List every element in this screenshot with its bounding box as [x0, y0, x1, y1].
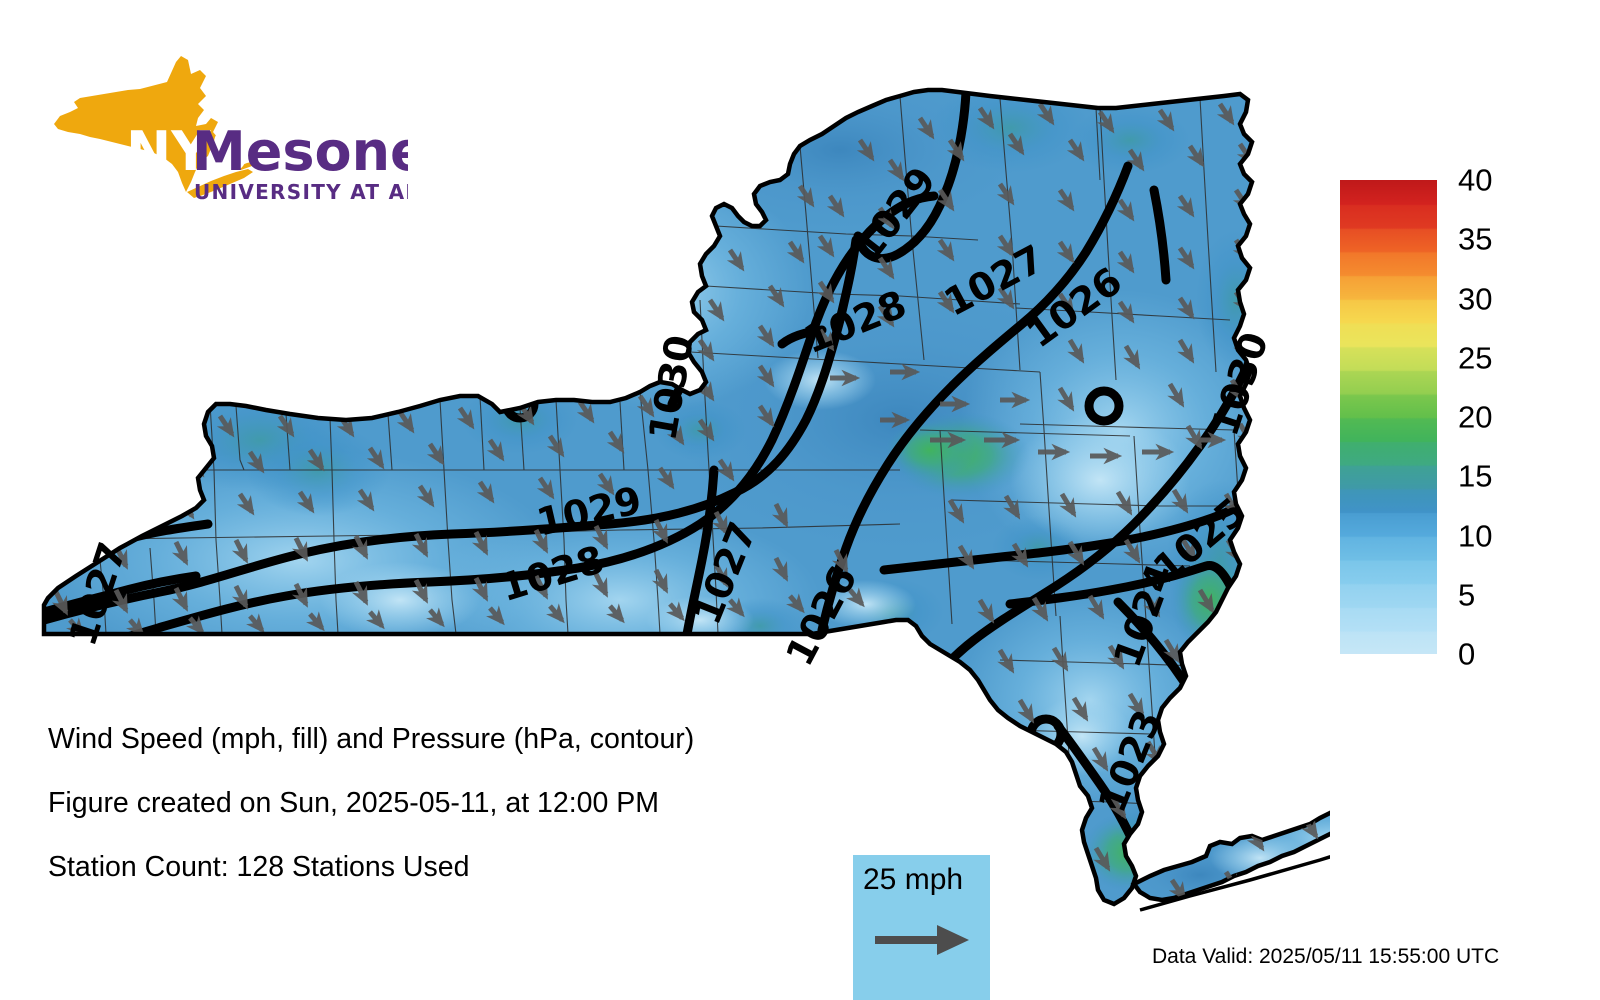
colorbar-tick-label: 0 [1458, 639, 1475, 670]
wind-reference-legend: 25 mph [853, 855, 990, 1000]
colorbar-tick-label: 30 [1458, 283, 1492, 314]
colorbar [1340, 180, 1437, 654]
colorbar-tick-label: 15 [1458, 461, 1492, 492]
caption-station-count: Station Count: 128 Stations Used [48, 851, 469, 884]
data-valid-timestamp: Data Valid: 2025/05/11 15:55:00 UTC [1152, 945, 1499, 969]
colorbar-tick-label: 5 [1458, 579, 1475, 610]
colorbar-tick-label: 25 [1458, 342, 1492, 373]
wind-reference-label: 25 mph [863, 863, 963, 897]
caption-created: Figure created on Sun, 2025-05-11, at 12… [48, 787, 659, 820]
figure-canvas: NYS Mesonet UNIVERSITY AT ALBANY [0, 0, 1600, 1000]
colorbar-tick-label: 10 [1458, 520, 1492, 551]
caption-title: Wind Speed (mph, fill) and Pressure (hPa… [48, 723, 694, 756]
colorbar-gradient [1340, 180, 1437, 654]
wind-reference-arrow-icon [871, 917, 975, 963]
colorbar-tick-label: 35 [1458, 224, 1492, 255]
colorbar-tick-label: 40 [1458, 165, 1492, 196]
colorbar-tick-label: 20 [1458, 402, 1492, 433]
